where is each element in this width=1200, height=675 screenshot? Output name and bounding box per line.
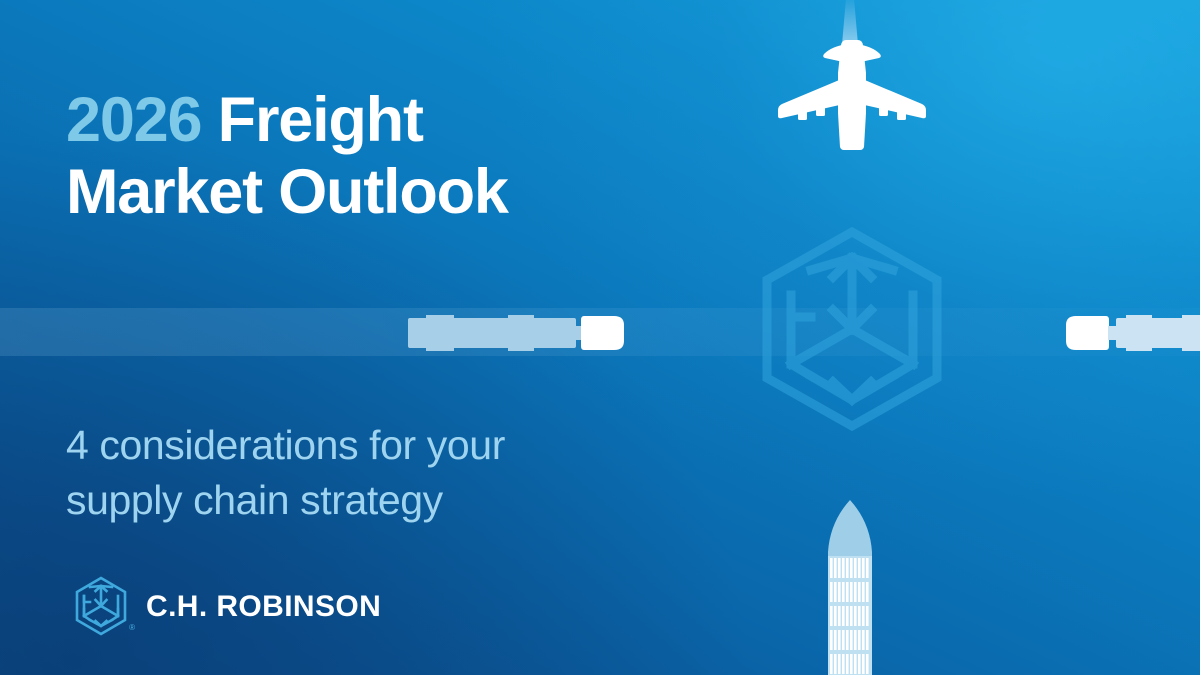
page-subtitle: 4 considerations for your supply chain s… (66, 418, 666, 527)
hexagon-arrows-watermark-icon (745, 222, 959, 436)
brand-logo-lockup: ® C.H. ROBINSON (72, 575, 381, 639)
headline-line1-rest: Freight (201, 85, 422, 155)
subtitle-line2: supply chain strategy (66, 477, 443, 523)
registered-trademark-symbol: ® (129, 624, 135, 632)
headline-year: 2026 (66, 85, 201, 155)
brand-wordmark: C.H. ROBINSON (146, 590, 381, 624)
hexagon-arrows-mark-icon: ® (72, 575, 130, 639)
page-title: 2026 Freight Market Outlook (66, 85, 706, 229)
semi-truck-right-icon (1062, 312, 1200, 354)
subtitle-line1: 4 considerations for your (66, 422, 505, 468)
headline-line2: Market Outlook (66, 157, 508, 227)
banner-canvas: 2026 Freight Market Outlook 4 considerat… (0, 0, 1200, 675)
container-ship-icon (812, 500, 888, 675)
semi-truck-left-icon (408, 312, 628, 354)
airplane-icon (772, 38, 932, 150)
